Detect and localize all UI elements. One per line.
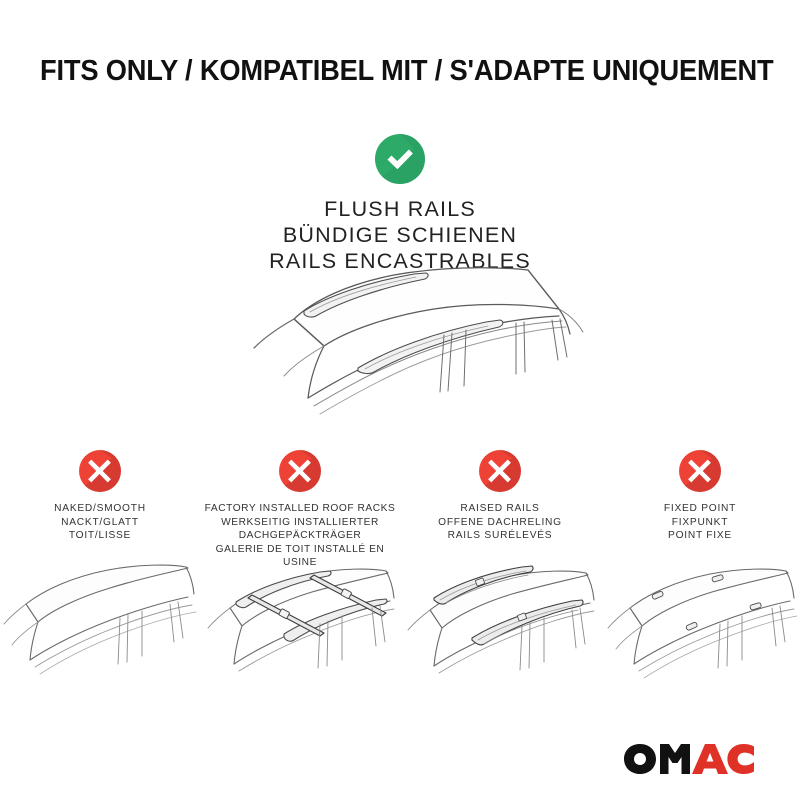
incompatible-item-naked-smooth: NAKED/SMOOTH NACKT/GLATT TOIT/LISSE: [0, 448, 200, 708]
incompatible-item-raised-rails: RAISED RAILS OFFENE DACHRELING RAILS SUR…: [400, 448, 600, 708]
car-roof-raised-rails-illustration: [400, 552, 600, 702]
page-title: FITS ONLY / KOMPATIBEL MIT / S'ADAPTE UN…: [40, 54, 726, 88]
compatible-section: FLUSH RAILS BÜNDIGE SCHIENEN RAILS ENCAS…: [0, 132, 800, 274]
cross-circle-icon: [277, 448, 323, 494]
incompatible-label: NAKED/SMOOTH NACKT/GLATT TOIT/LISSE: [0, 502, 200, 543]
cross-circle-icon: [677, 448, 723, 494]
car-roof-fixed-point-illustration: [600, 552, 800, 702]
check-circle-icon: [373, 132, 427, 186]
car-roof-factory-rack-illustration: [200, 552, 400, 702]
car-roof-naked-illustration: [0, 552, 200, 702]
incompatible-label: FIXED POINT FIXPUNKT POINT FIXE: [600, 502, 800, 543]
car-roof-flush-rails-illustration: [228, 262, 588, 437]
cross-circle-icon: [477, 448, 523, 494]
incompatible-item-fixed-point: FIXED POINT FIXPUNKT POINT FIXE: [600, 448, 800, 708]
cross-circle-icon: [77, 448, 123, 494]
omac-logo: [622, 742, 772, 776]
incompatible-section: NAKED/SMOOTH NACKT/GLATT TOIT/LISSE: [0, 448, 800, 708]
incompatible-label: RAISED RAILS OFFENE DACHRELING RAILS SUR…: [400, 502, 600, 543]
incompatible-item-factory-roof-racks: FACTORY INSTALLED ROOF RACKS WERKSEITIG …: [200, 448, 400, 708]
